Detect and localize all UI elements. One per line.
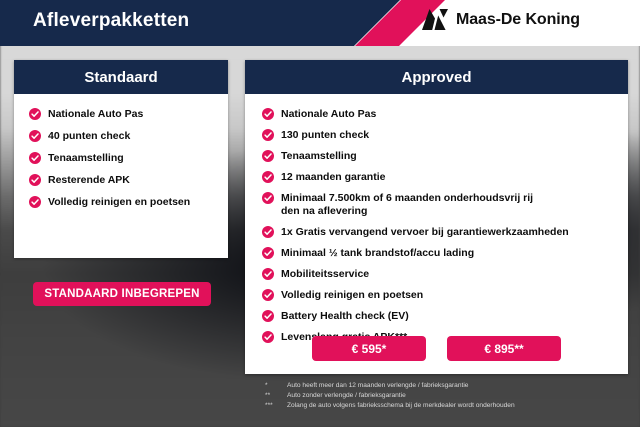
feature-label: Mobiliteitsservice: [281, 267, 369, 281]
footnotes: *Auto heeft meer dan 12 maanden verlengd…: [265, 381, 635, 411]
feature-item: Minimaal ½ tank brandstof/accu lading: [262, 246, 614, 260]
feature-label: Nationale Auto Pas: [48, 107, 143, 121]
check-circle-icon: [262, 192, 274, 204]
feature-item: Volledig reinigen en poetsen: [29, 195, 218, 209]
footnote-text: Zolang de auto volgens fabrieksschema bi…: [287, 401, 515, 411]
check-circle-icon: [262, 289, 274, 301]
check-circle-icon: [262, 247, 274, 259]
feature-item: 1x Gratis vervangend vervoer bij garanti…: [262, 225, 614, 239]
feature-item: Volledig reinigen en poetsen: [262, 288, 614, 302]
card-heading-approved: Approved: [245, 60, 628, 94]
check-circle-icon: [29, 152, 41, 164]
check-circle-icon: [29, 174, 41, 186]
feature-item: Nationale Auto Pas: [29, 107, 218, 121]
feature-label: Battery Health check (EV): [281, 309, 409, 323]
check-circle-icon: [29, 196, 41, 208]
feature-item: Resterende APK: [29, 173, 218, 187]
feature-item: Mobiliteitsservice: [262, 267, 614, 281]
feature-label: Resterende APK: [48, 173, 130, 187]
footnote-row: **Auto zonder verlengde / fabrieksgarant…: [265, 391, 635, 401]
feature-label: Minimaal ½ tank brandstof/accu lading: [281, 246, 474, 260]
footnote-text: Auto zonder verlengde / fabrieksgarantie: [287, 391, 406, 401]
page-title: Afleverpakketten: [33, 10, 189, 32]
footnote-marker: **: [265, 391, 287, 401]
check-circle-icon: [262, 310, 274, 322]
feature-label: 1x Gratis vervangend vervoer bij garanti…: [281, 225, 569, 239]
check-circle-icon: [262, 150, 274, 162]
feature-item: Tenaamstelling: [262, 149, 614, 163]
footnote-row: ***Zolang de auto volgens fabrieksschema…: [265, 401, 635, 411]
page-header: Afleverpakketten Maas-De Koning: [0, 0, 640, 46]
feature-item: Tenaamstelling: [29, 151, 218, 165]
check-circle-icon: [29, 130, 41, 142]
check-circle-icon: [262, 226, 274, 238]
price-button-1[interactable]: € 595*: [312, 336, 426, 361]
check-circle-icon: [262, 108, 274, 120]
brand-name: Maas-De Koning: [456, 11, 580, 29]
footnote-marker: ***: [265, 401, 287, 411]
check-circle-icon: [262, 171, 274, 183]
package-card-standaard: Standaard Nationale Auto Pas40 punten ch…: [14, 60, 228, 258]
footnote-text: Auto heeft meer dan 12 maanden verlengde…: [287, 381, 468, 391]
feature-label: 40 punten check: [48, 129, 130, 143]
feature-item: 40 punten check: [29, 129, 218, 143]
feature-label: 130 punten check: [281, 128, 369, 142]
feature-item: Minimaal 7.500km of 6 maanden onderhouds…: [262, 191, 614, 218]
check-circle-icon: [262, 268, 274, 280]
check-circle-icon: [262, 129, 274, 141]
feature-label: Tenaamstelling: [48, 151, 124, 165]
maas-de-koning-m-icon: [422, 9, 448, 31]
footnote-row: *Auto heeft meer dan 12 maanden verlengd…: [265, 381, 635, 391]
feature-label: Tenaamstelling: [281, 149, 357, 163]
price-button-2[interactable]: € 895**: [447, 336, 561, 361]
price-button-row: € 595*€ 895**: [245, 336, 628, 361]
footnote-marker: *: [265, 381, 287, 391]
feature-list-approved: Nationale Auto Pas130 punten checkTenaam…: [245, 94, 628, 344]
feature-item: 12 maanden garantie: [262, 170, 614, 184]
feature-item: Nationale Auto Pas: [262, 107, 614, 121]
feature-label: 12 maanden garantie: [281, 170, 385, 184]
standaard-inbegrepen-button[interactable]: STANDAARD INBEGREPEN: [33, 282, 211, 306]
feature-label: Minimaal 7.500km of 6 maanden onderhouds…: [281, 191, 533, 218]
brand-logo: Maas-De Koning: [422, 9, 580, 31]
feature-item: Battery Health check (EV): [262, 309, 614, 323]
feature-label: Nationale Auto Pas: [281, 107, 376, 121]
feature-item: 130 punten check: [262, 128, 614, 142]
card-heading-standaard: Standaard: [14, 60, 228, 94]
check-circle-icon: [29, 108, 41, 120]
feature-label: Volledig reinigen en poetsen: [281, 288, 423, 302]
package-card-approved: Approved Nationale Auto Pas130 punten ch…: [245, 60, 628, 374]
feature-label: Volledig reinigen en poetsen: [48, 195, 190, 209]
feature-list-standaard: Nationale Auto Pas40 punten checkTenaams…: [14, 94, 228, 209]
